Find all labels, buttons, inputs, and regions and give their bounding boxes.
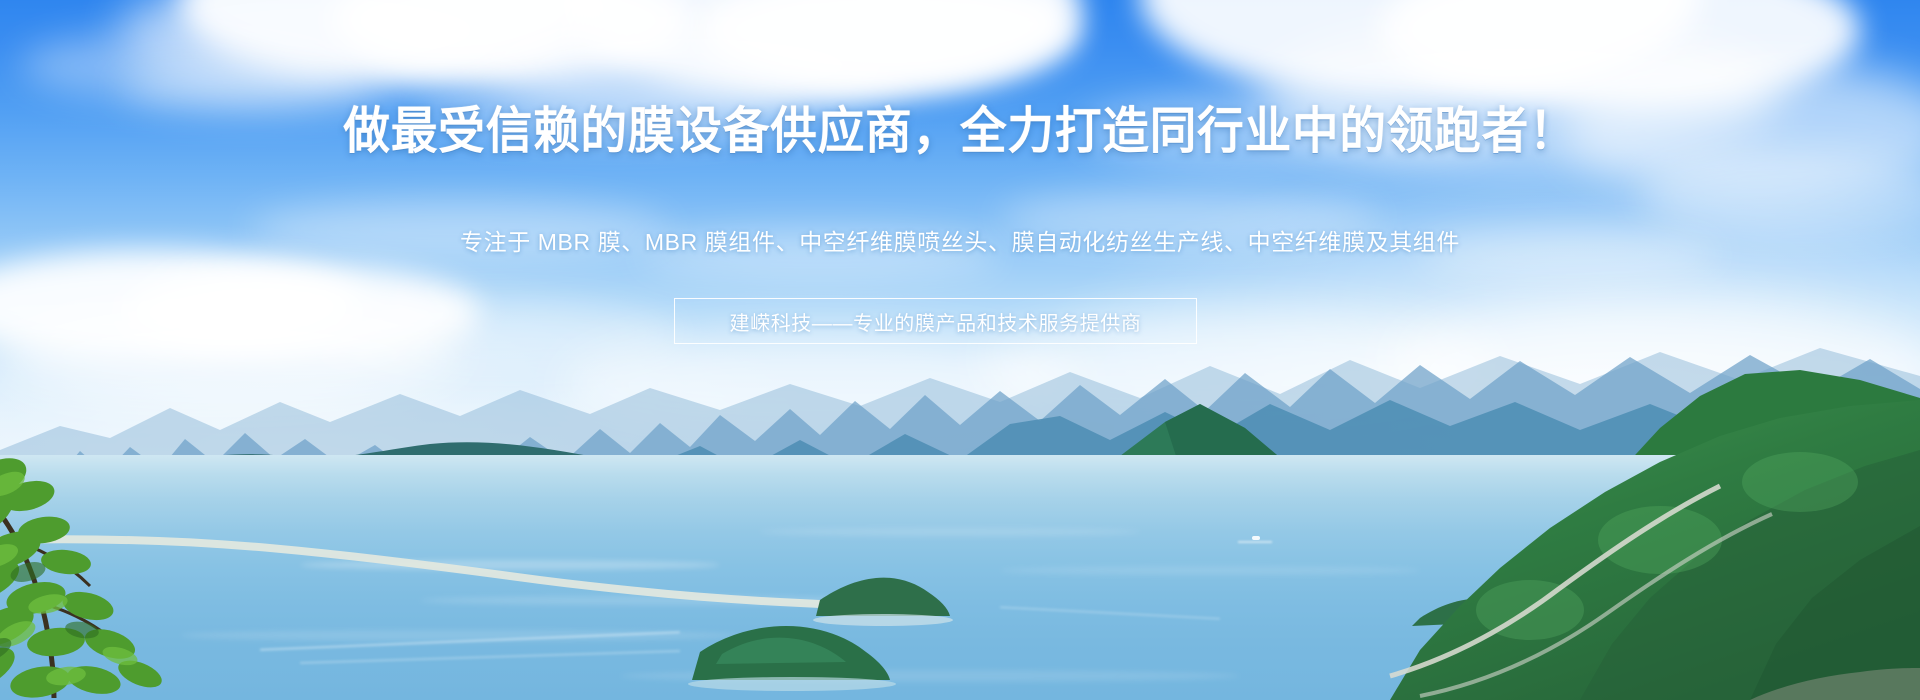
banner-tagline-box: 建嵘科技——专业的膜产品和技术服务提供商 — [674, 298, 1197, 344]
water-boat — [1252, 536, 1260, 540]
banner-headline: 做最受信赖的膜设备供应商，全力打造同行业中的领跑者！ — [67, 104, 1853, 159]
water-boat-wake — [1238, 541, 1272, 543]
hero-banner: 做最受信赖的膜设备供应商，全力打造同行业中的领跑者！ 专注于 MBR 膜、MBR… — [0, 0, 1920, 700]
foreground-tree-foliage — [0, 430, 300, 700]
banner-tagline-text: 建嵘科技——专业的膜产品和技术服务提供商 — [730, 307, 1142, 336]
banner-subline: 专注于 MBR 膜、MBR 膜组件、中空纤维膜喷丝头、膜自动化纺丝生产线、中空纤… — [0, 228, 1920, 258]
right-foreground-slope — [1060, 400, 1920, 700]
